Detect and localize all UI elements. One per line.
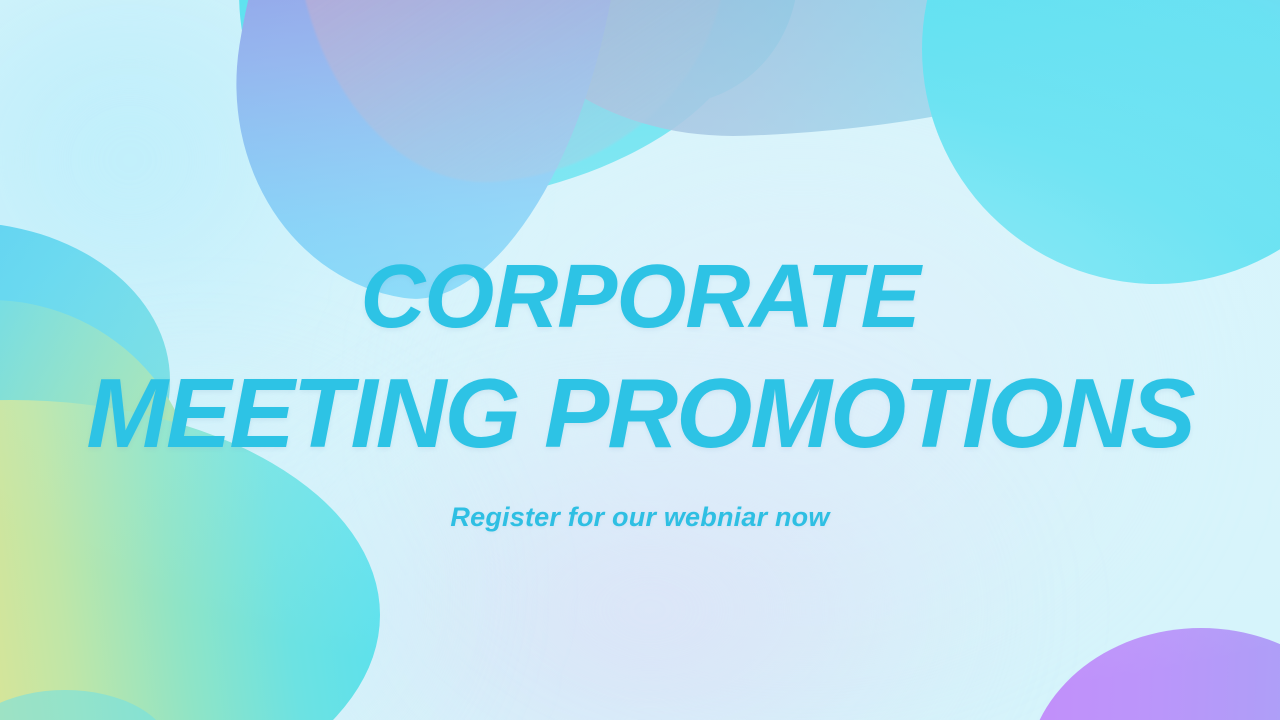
promotional-poster: CORPORATE MEETING PROMOTIONS Register fo… xyxy=(0,0,1280,720)
poster-text-block: CORPORATE MEETING PROMOTIONS Register fo… xyxy=(0,0,1280,720)
headline-line-2: MEETING PROMOTIONS xyxy=(86,364,1193,462)
headline-line-1: CORPORATE xyxy=(360,252,919,342)
subtitle-call-to-action: Register for our webniar now xyxy=(450,502,829,533)
